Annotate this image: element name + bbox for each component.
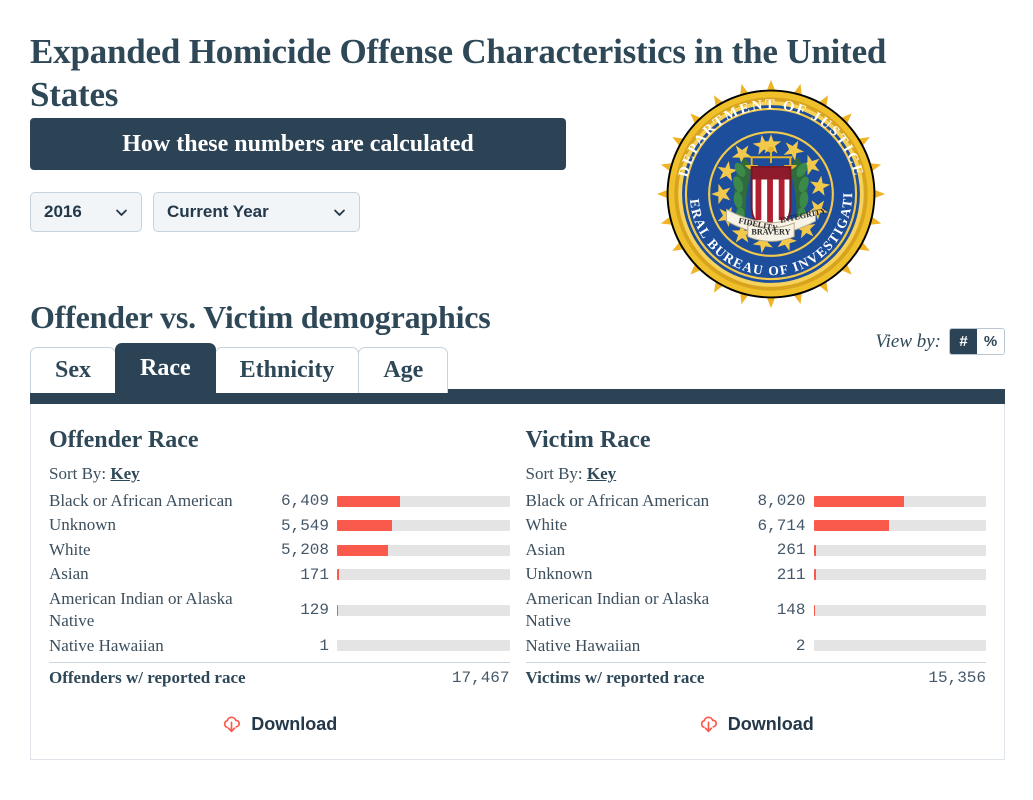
- bar-track: [337, 640, 510, 651]
- row-value: 8,020: [734, 492, 814, 510]
- bar-fill: [814, 520, 889, 531]
- how-calculated-button[interactable]: How these numbers are calculated: [30, 118, 566, 170]
- offender-total-row: Offenders w/ reported race 17,467: [49, 662, 510, 688]
- row-category-label: Black or African American: [49, 490, 257, 512]
- offender-total-label: Offenders w/ reported race: [49, 668, 452, 688]
- bar-fill: [337, 605, 338, 616]
- row-value: 261: [734, 541, 814, 559]
- offender-race-rows: Black or African American6,409Unknown5,5…: [49, 489, 510, 658]
- row-value: 6,714: [734, 517, 814, 535]
- victim-panel-title: Victim Race: [526, 427, 987, 454]
- bar-track: [814, 545, 987, 556]
- table-row: American Indian or Alaska Native129: [49, 587, 510, 634]
- sort-by-key-link[interactable]: Key: [587, 464, 616, 483]
- bar-track: [337, 569, 510, 580]
- tab-age[interactable]: Age: [358, 347, 448, 393]
- view-by-percent-option[interactable]: %: [977, 329, 1004, 354]
- chevron-down-icon: [115, 206, 128, 219]
- row-category-label: Asian: [49, 563, 257, 585]
- row-value: 5,549: [257, 517, 337, 535]
- bar-track: [337, 605, 510, 616]
- row-category-label: American Indian or Alaska Native: [526, 588, 734, 633]
- view-by-number-option[interactable]: #: [950, 329, 977, 354]
- chevron-down-icon: [333, 206, 346, 219]
- row-category-label: White: [526, 514, 734, 536]
- row-category-label: Native Hawaiian: [49, 635, 257, 657]
- table-row: Native Hawaiian1: [49, 634, 510, 658]
- sort-by-prefix: Sort By:: [49, 464, 106, 483]
- offender-race-panel: Offender Race Sort By: Key Black or Afri…: [41, 424, 518, 735]
- victim-race-panel: Victim Race Sort By: Key Black or Africa…: [518, 424, 995, 735]
- row-category-label: Native Hawaiian: [526, 635, 734, 657]
- row-category-label: Unknown: [526, 563, 734, 585]
- tab-sex[interactable]: Sex: [30, 347, 116, 393]
- bar-fill: [814, 496, 904, 507]
- section-title: Offender vs. Victim demographics: [30, 299, 491, 336]
- bar-fill: [814, 605, 816, 616]
- bar-fill: [337, 520, 392, 531]
- year-select-value: 2016: [44, 202, 82, 222]
- cloud-download-icon: [221, 714, 242, 735]
- bar-fill: [814, 545, 817, 556]
- demographics-card: Offender Race Sort By: Key Black or Afri…: [30, 404, 1005, 760]
- view-by-label: View by:: [875, 331, 941, 353]
- view-by-toggle[interactable]: # %: [949, 328, 1005, 355]
- table-row: Unknown5,549: [49, 513, 510, 537]
- row-value: 129: [257, 601, 337, 619]
- table-row: White5,208: [49, 538, 510, 562]
- year-select[interactable]: 2016: [30, 192, 142, 232]
- bar-track: [814, 605, 987, 616]
- svg-text:BRAVERY: BRAVERY: [751, 228, 790, 237]
- bar-fill: [337, 496, 400, 507]
- bar-track: [814, 496, 987, 507]
- row-value: 2: [734, 637, 814, 655]
- row-value: 6,409: [257, 492, 337, 510]
- victim-total-label: Victims w/ reported race: [526, 668, 929, 688]
- victim-total-value: 15,356: [928, 669, 986, 687]
- offender-download-wrap: Download: [49, 714, 510, 735]
- table-row: Black or African American6,409: [49, 489, 510, 513]
- victim-race-rows: Black or African American8,020White6,714…: [526, 489, 987, 658]
- table-row: Asian171: [49, 562, 510, 586]
- fbi-seal-icon: DEPARTMENT OF JUSTICE FEDERAL BUREAU OF …: [652, 78, 890, 310]
- page-root: Expanded Homicide Offense Characteristic…: [0, 0, 1033, 800]
- table-row: Native Hawaiian2: [526, 634, 987, 658]
- tab-ethnicity[interactable]: Ethnicity: [215, 347, 360, 393]
- bar-fill: [814, 569, 816, 580]
- victim-total-row: Victims w/ reported race 15,356: [526, 662, 987, 688]
- row-category-label: American Indian or Alaska Native: [49, 588, 257, 633]
- victim-download-button[interactable]: Download: [698, 714, 814, 735]
- bar-track: [814, 520, 987, 531]
- bar-fill: [337, 569, 339, 580]
- victim-sort-by: Sort By: Key: [526, 464, 987, 484]
- row-category-label: White: [49, 539, 257, 561]
- bar-track: [814, 640, 987, 651]
- cloud-download-icon: [698, 714, 719, 735]
- filter-controls: 2016 Current Year: [30, 192, 360, 232]
- table-row: Black or African American8,020: [526, 489, 987, 513]
- offender-total-value: 17,467: [452, 669, 510, 687]
- year-range-select-value: Current Year: [167, 202, 269, 222]
- row-value: 1: [257, 637, 337, 655]
- row-value: 171: [257, 566, 337, 584]
- row-value: 211: [734, 566, 814, 584]
- row-value: 5,208: [257, 541, 337, 559]
- table-row: White6,714: [526, 513, 987, 537]
- sort-by-key-link[interactable]: Key: [110, 464, 139, 483]
- offender-panel-title: Offender Race: [49, 427, 510, 454]
- sort-by-prefix: Sort By:: [526, 464, 583, 483]
- table-row: American Indian or Alaska Native148: [526, 587, 987, 634]
- offender-download-label: Download: [251, 714, 337, 735]
- bar-track: [337, 496, 510, 507]
- table-row: Unknown211: [526, 562, 987, 586]
- year-range-select[interactable]: Current Year: [153, 192, 360, 232]
- table-row: Asian261: [526, 538, 987, 562]
- row-category-label: Black or African American: [526, 490, 734, 512]
- bar-track: [814, 569, 987, 580]
- tab-race[interactable]: Race: [115, 343, 216, 393]
- view-by-control: View by: # %: [875, 328, 1005, 355]
- demographic-tabs: Sex Race Ethnicity Age: [30, 343, 447, 393]
- bar-track: [337, 520, 510, 531]
- victim-download-wrap: Download: [526, 714, 987, 735]
- offender-sort-by: Sort By: Key: [49, 464, 510, 484]
- row-value: 148: [734, 601, 814, 619]
- bar-track: [337, 545, 510, 556]
- row-category-label: Unknown: [49, 514, 257, 536]
- panels-container: Offender Race Sort By: Key Black or Afri…: [31, 404, 1004, 735]
- victim-download-label: Download: [728, 714, 814, 735]
- row-category-label: Asian: [526, 539, 734, 561]
- bar-fill: [337, 545, 388, 556]
- offender-download-button[interactable]: Download: [221, 714, 337, 735]
